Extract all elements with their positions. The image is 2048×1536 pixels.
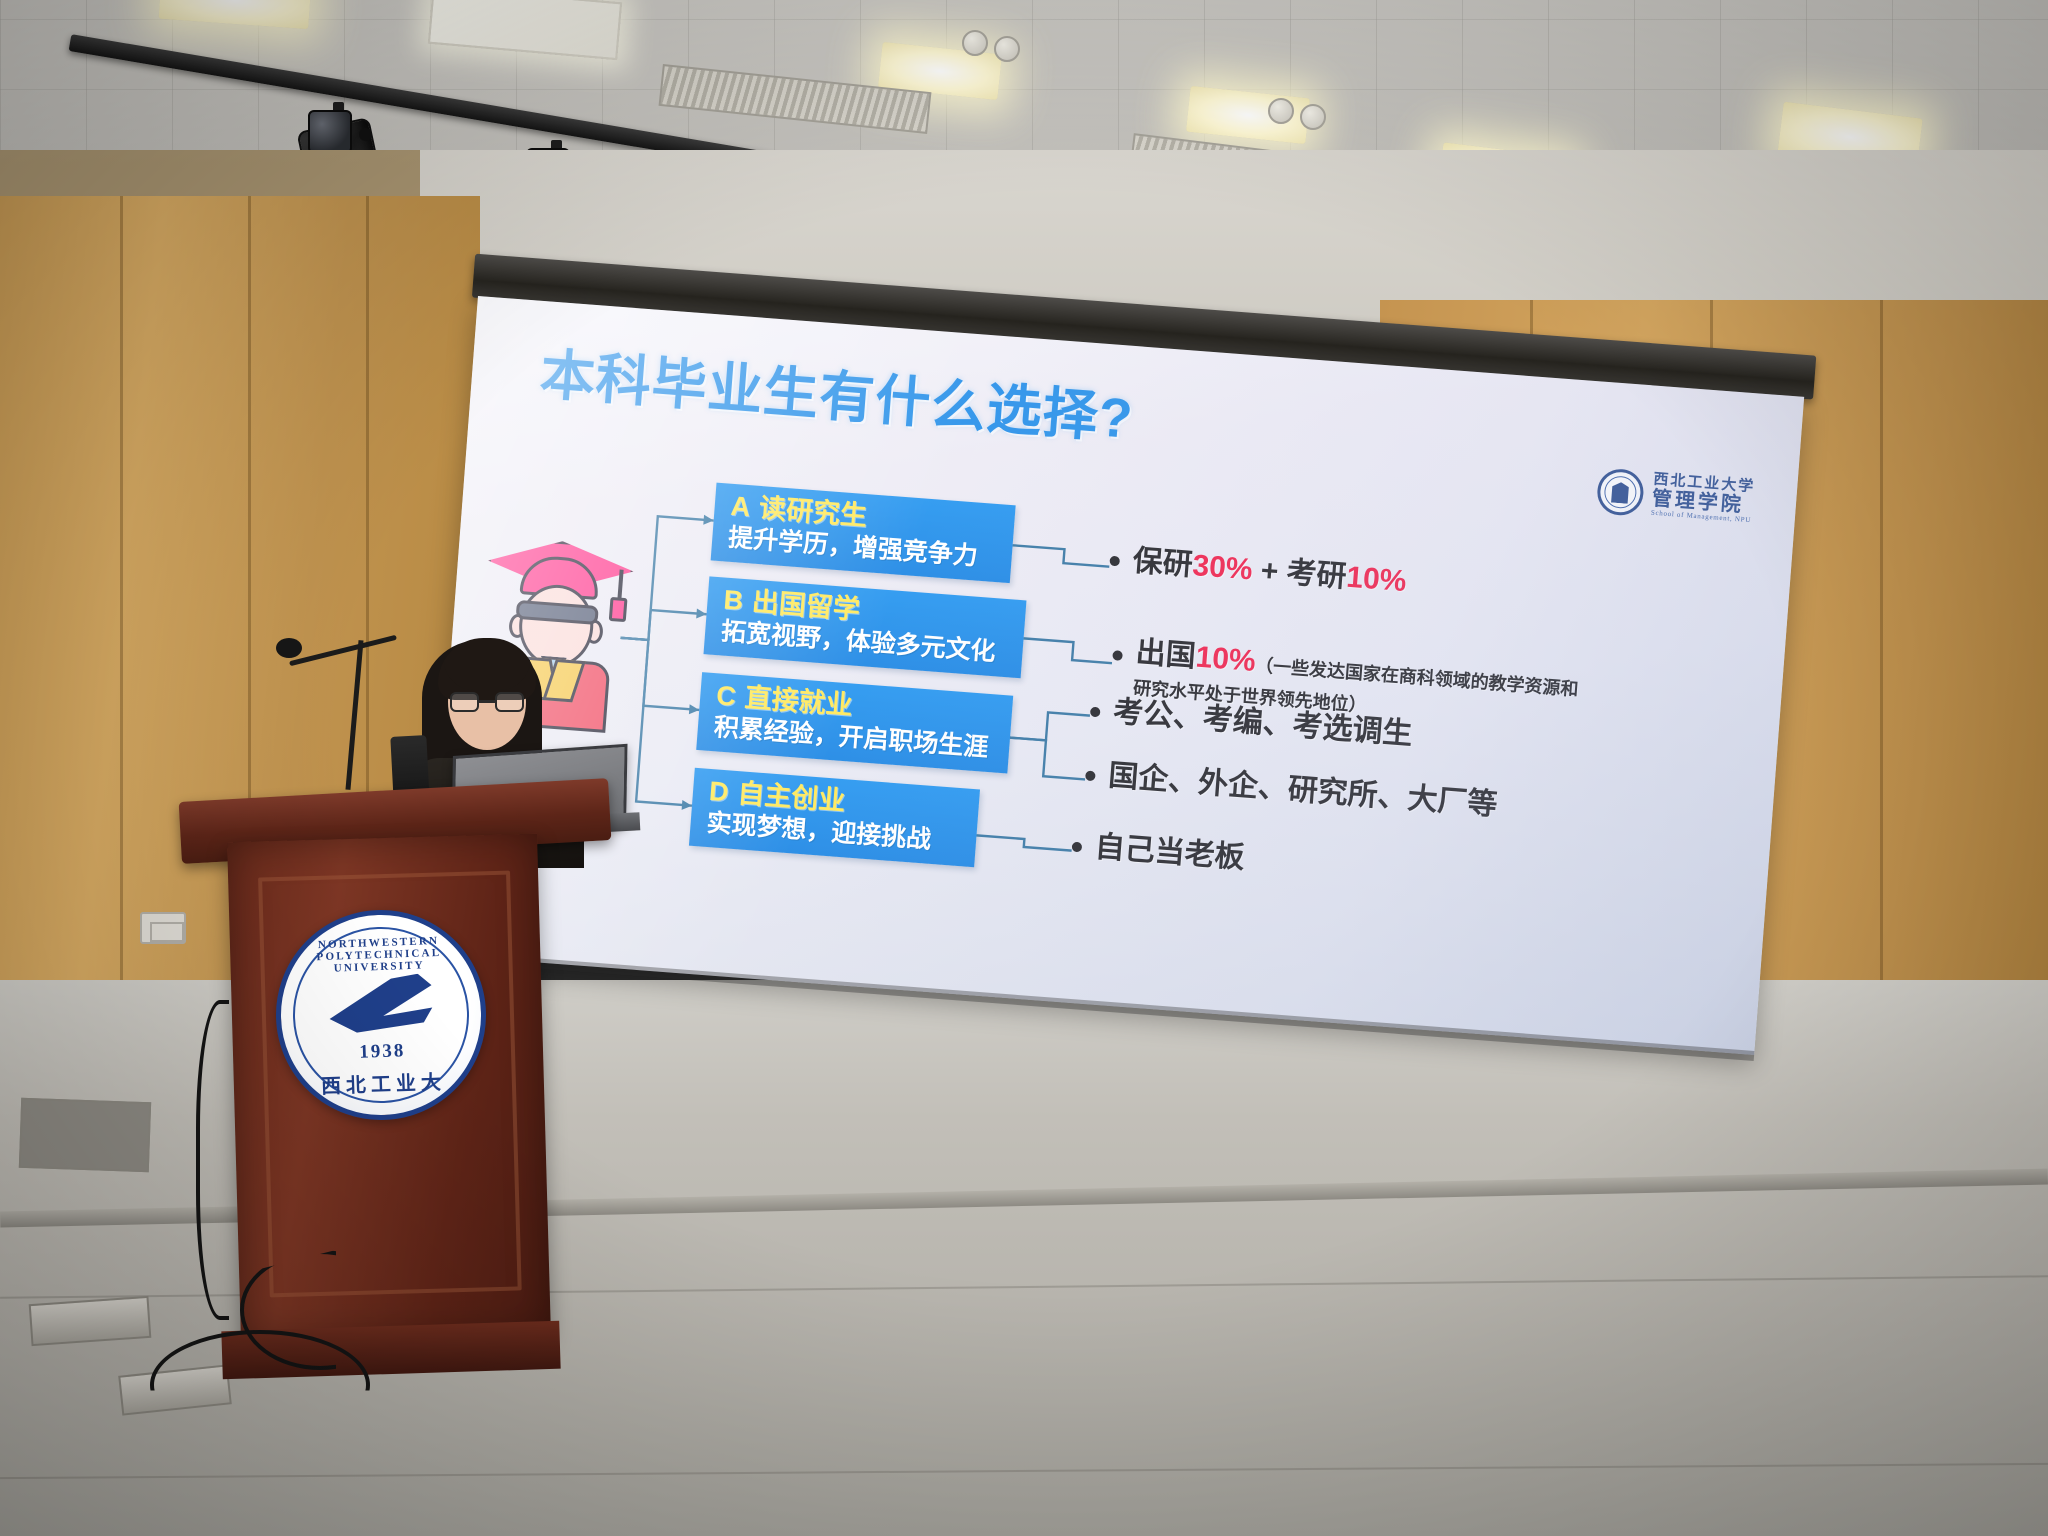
bullet-dot-icon	[1085, 770, 1096, 781]
option-box-b: B出国留学 拓宽视野，体验多元文化	[703, 576, 1026, 678]
seal-year: 1938	[282, 1037, 483, 1066]
wall-outlet	[140, 912, 186, 944]
presentation-slide: 本科毕业生有什么选择? 西北工业大学 管理学院 School of Manage…	[428, 296, 1804, 1055]
outcome-seg: 考研	[1285, 556, 1347, 593]
option-box-d: D自主创业 实现梦想，迎接挑战	[689, 768, 980, 867]
outcome-seg-highlight: 10%	[1194, 641, 1256, 678]
outcome-text-employers: 国企、外企、研究所、大厂等	[1107, 757, 1499, 824]
podium-university-seal: NORTHWESTERN POLYTECHNICAL UNIVERSITY 19…	[272, 906, 489, 1123]
option-a-letter: A	[730, 491, 752, 522]
bullet-dot-icon	[1112, 650, 1123, 661]
outcome-seg: 保研	[1132, 544, 1194, 581]
ceiling-speaker-icon	[962, 30, 988, 56]
outcome-seg: 出国	[1135, 636, 1197, 673]
option-c-letter: C	[715, 680, 737, 711]
university-logo: 西北工业大学 管理学院 School of Management, NPU	[1596, 468, 1756, 526]
option-box-c: C直接就业 积累经验，开启职场生涯	[696, 672, 1013, 773]
bullet-dot-icon	[1090, 707, 1101, 718]
floor-access-panel	[19, 1098, 151, 1172]
presenter-glasses-icon	[450, 692, 524, 712]
outcome-bullet-employers: 国企、外企、研究所、大厂等	[1084, 756, 1499, 825]
ceiling-speaker-icon	[1300, 104, 1326, 130]
outcome-seg-highlight: 10%	[1345, 561, 1407, 598]
npu-seal-icon	[1596, 468, 1645, 517]
lecture-hall-scene: 本科毕业生有什么选择? 西北工业大学 管理学院 School of Manage…	[0, 0, 2048, 1536]
outcome-text-self-employed: 自己当老板	[1094, 828, 1246, 877]
outcome-seg: +	[1251, 554, 1288, 589]
seal-arc-top-text: NORTHWESTERN POLYTECHNICAL UNIVERSITY	[278, 934, 479, 977]
floor-access-box	[29, 1296, 152, 1346]
bullet-dot-icon	[1109, 556, 1120, 567]
ceiling-speaker-icon	[1268, 98, 1294, 124]
bullet-dot-icon	[1072, 842, 1083, 853]
ceiling-speaker-icon	[994, 36, 1020, 62]
outcome-bullet-postgrad: 保研30% + 考研10%	[1108, 541, 1407, 601]
option-b-letter: B	[723, 585, 745, 616]
outcome-seg-highlight: 30%	[1191, 549, 1253, 586]
soaring-bird-icon	[324, 973, 438, 1043]
outcome-text-postgrad: 保研30% + 考研10%	[1131, 542, 1407, 600]
projection-screen: 本科毕业生有什么选择? 西北工业大学 管理学院 School of Manage…	[428, 296, 1804, 1055]
screen-surface: 本科毕业生有什么选择? 西北工业大学 管理学院 School of Manage…	[428, 296, 1804, 1055]
outcome-bullet-self-employed: 自己当老板	[1071, 827, 1246, 878]
option-d-letter: D	[708, 776, 730, 807]
option-box-a: A读研究生 提升学历，增强竞争力	[711, 483, 1016, 583]
slide-title: 本科毕业生有什么选择?	[538, 329, 1137, 454]
microphone-head-icon	[276, 638, 302, 658]
